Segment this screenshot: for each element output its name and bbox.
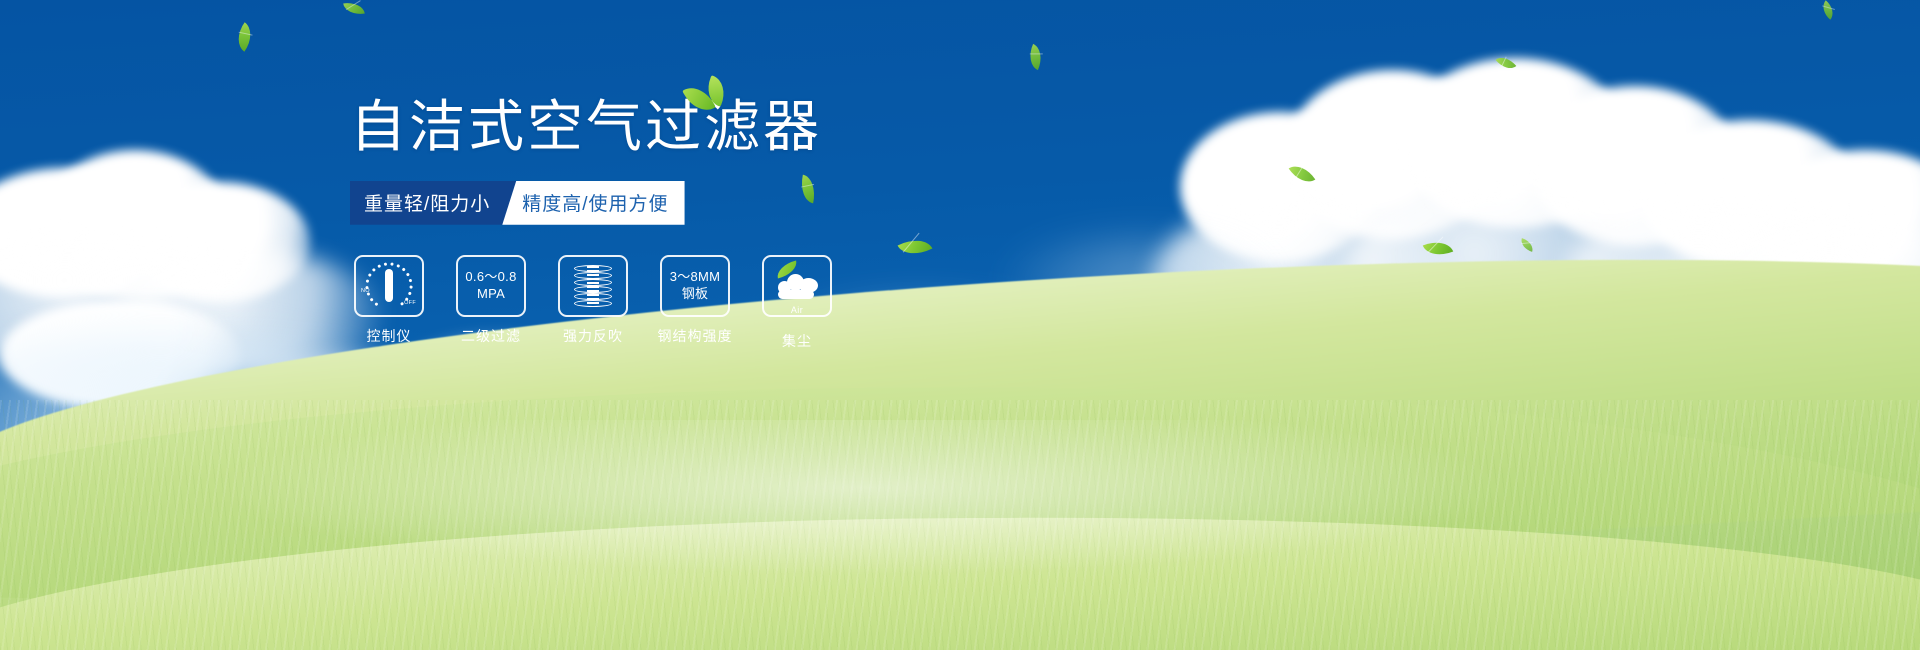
feature-box: Air <box>762 255 832 317</box>
air-cloud-icon: Air <box>774 269 820 303</box>
air-label: Air <box>774 305 820 315</box>
grass-field <box>0 330 1920 650</box>
pressure-value: 0.6〜0.8 <box>465 269 516 285</box>
banner-content: 自洁式空气过滤器 重量轻/阻力小 精度高/使用方便 <box>350 96 1070 351</box>
filter-stack-icon <box>571 264 615 308</box>
feature-box <box>558 255 628 317</box>
feature-label: 强力反吹 <box>554 326 632 346</box>
banner-stage: 自洁式空气过滤器 重量轻/阻力小 精度高/使用方便 <box>0 0 1920 650</box>
feature-item-backblow[interactable]: 强力反吹 <box>554 255 632 351</box>
feature-item-pressure[interactable]: 0.6〜0.8 MPA 二级过滤 <box>452 255 530 351</box>
feature-box: 0.6〜0.8 MPA <box>456 255 526 317</box>
feature-label: 二级过滤 <box>452 326 530 346</box>
feature-item-controller[interactable]: NO OFF 控制仪 <box>350 255 428 351</box>
steel-material: 钢板 <box>670 286 721 302</box>
gauge-needle <box>385 269 393 302</box>
tagline-secondary[interactable]: 精度高/使用方便 <box>502 181 684 225</box>
pressure-unit: MPA <box>465 286 516 302</box>
steel-thickness: 3〜8MM <box>670 269 721 285</box>
feature-box: 3〜8MM 钢板 <box>660 255 730 317</box>
feature-box: NO OFF <box>354 255 424 317</box>
steel-plate-icon: 3〜8MM 钢板 <box>670 269 721 302</box>
pressure-icon: 0.6〜0.8 MPA <box>465 269 516 302</box>
tagline-group: 重量轻/阻力小 精度高/使用方便 <box>350 181 675 225</box>
feature-item-dust[interactable]: Air 集尘 <box>758 255 836 351</box>
gauge-icon: NO OFF <box>361 263 417 309</box>
feature-label: 钢结构强度 <box>656 326 734 346</box>
gauge-off-label: OFF <box>404 300 416 306</box>
feature-label: 集尘 <box>758 331 836 351</box>
feature-list: NO OFF 控制仪 0.6〜0.8 MPA 二级过滤 <box>350 255 1070 351</box>
gauge-no-label: NO <box>361 288 370 294</box>
feature-item-steel[interactable]: 3〜8MM 钢板 钢结构强度 <box>656 255 734 351</box>
tagline-primary[interactable]: 重量轻/阻力小 <box>350 181 516 225</box>
feature-label: 控制仪 <box>350 326 428 346</box>
